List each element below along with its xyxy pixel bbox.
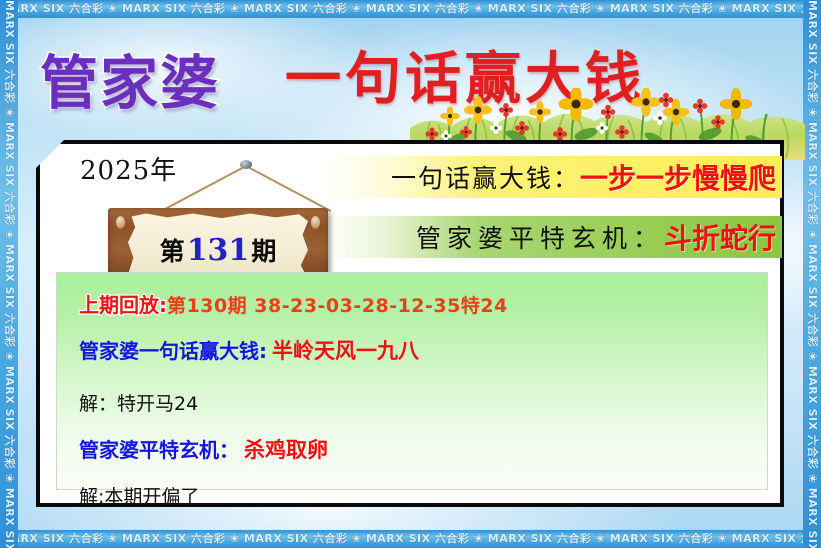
screw-left-icon: [116, 216, 125, 229]
banner-xuanji-label: 管家婆平特玄机：: [416, 219, 664, 255]
row-answer-one: 解：特开马24: [79, 389, 767, 416]
last-slogan-value: 半岭天风一九八: [272, 339, 419, 363]
panel-inner: 2025年 第131期 一句话赢大钱：一步一步慢慢爬: [40, 144, 780, 503]
row-last-xuanji: 管家婆平特玄机：杀鸡取卵: [79, 434, 767, 464]
nail-icon: [240, 160, 252, 169]
last-xuanji-value: 杀鸡取卵: [244, 438, 328, 462]
content-box: 上期回放:第130期 38-23-03-28-12-35特24 管家婆一句话赢大…: [56, 272, 768, 490]
answer-two-text: 解:本期开偏了: [79, 486, 199, 508]
last-draw-tag: 上期回放:: [79, 293, 167, 317]
banner-slogan: 一句话赢大钱：一步一步慢慢爬: [322, 156, 782, 198]
row-last-slogan: 管家婆一句话赢大钱:半岭天风一九八: [79, 335, 767, 365]
plaque-rope-left: [246, 165, 332, 212]
answer-one-text: 解：特开马24: [79, 393, 198, 415]
plaque-rope-right: [161, 165, 247, 212]
border-text-top: MARX SIX 六合彩 ❀ MARX SIX 六合彩 ❀ MARX SIX 六…: [0, 2, 821, 15]
last-slogan-label: 管家婆一句话赢大钱:: [79, 339, 267, 363]
screw-right-icon: [311, 216, 320, 229]
main-panel: 2025年 第131期 一句话赢大钱：一步一步慢慢爬: [36, 140, 784, 507]
hanging-plaque: 第131期: [100, 152, 350, 282]
border-strip-top: MARX SIX 六合彩 ❀ MARX SIX 六合彩 ❀ MARX SIX 六…: [0, 0, 821, 18]
border-strip-bottom: MARX SIX 六合彩 ❀ MARX SIX 六合彩 ❀ MARX SIX 六…: [0, 530, 821, 548]
banner-xuanji-value: 斗折蛇行: [664, 217, 776, 257]
issue-number-text: 第131期: [160, 232, 277, 268]
page-background: MARX SIX 六合彩 ❀ MARX SIX 六合彩 ❀ MARX SIX 六…: [0, 0, 821, 548]
brand-title: 管家婆: [40, 36, 220, 120]
banner-xuanji: 管家婆平特玄机：斗折蛇行: [322, 216, 782, 258]
banner-slogan-label: 一句话赢大钱：: [391, 159, 580, 195]
row-answer-two: 解:本期开偏了: [79, 482, 767, 509]
border-text-bottom: MARX SIX 六合彩 ❀ MARX SIX 六合彩 ❀ MARX SIX 六…: [0, 532, 821, 545]
row-last-draw-review: 上期回放:第130期 38-23-03-28-12-35特24: [79, 289, 767, 318]
issue-prefix: 第: [160, 237, 185, 266]
issue-suffix: 期: [251, 237, 276, 266]
issue-number: 131: [185, 233, 252, 268]
banner-slogan-value: 一步一步慢慢爬: [580, 157, 776, 197]
last-xuanji-label: 管家婆平特玄机：: [79, 438, 239, 462]
last-draw-numbers: 第130期 38-23-03-28-12-35特24: [167, 295, 508, 317]
